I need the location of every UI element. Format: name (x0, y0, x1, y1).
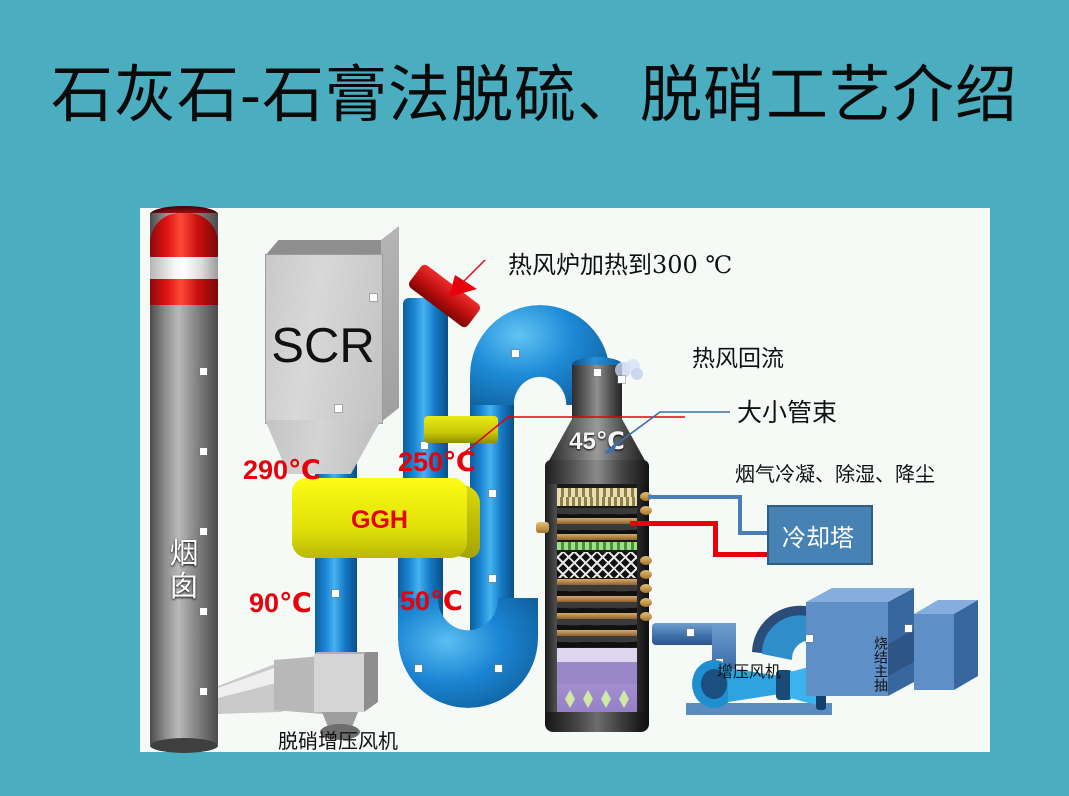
anchor-handle (415, 665, 422, 672)
stack-label: 烟囱 (160, 537, 208, 603)
anchor-handle (200, 368, 207, 375)
anchor-handle (335, 405, 342, 412)
cooling-return-line (713, 552, 770, 557)
stack-red-band-lower (150, 279, 218, 305)
tube-bundle-label: 大小管束 (737, 393, 837, 429)
tower-right-nozzle (640, 570, 652, 579)
tower-internals (557, 484, 637, 712)
anchor-handle (594, 369, 601, 376)
stack-base (150, 738, 218, 753)
slide-root: 石灰石-石膏法脱硫、脱硝工艺介绍 烟囱 SCR (0, 0, 1069, 796)
anchor-handle (489, 490, 496, 497)
tower-right-nozzle (640, 584, 652, 593)
sinter-main-exhaust-label: 烧结主抽 (872, 636, 887, 692)
hot-air-heater-label: 热风炉加热到300 ℃ (508, 245, 732, 280)
stack-red-band-upper (150, 213, 218, 257)
anchor-handle (489, 575, 496, 582)
tray-cap-row (557, 636, 637, 647)
tube-bundle-leader (598, 400, 730, 460)
stack-white-band (150, 257, 218, 279)
tray-cap-row (557, 585, 637, 596)
scr-side-face (381, 226, 399, 422)
booster-fan-label: 增压风机 (717, 658, 781, 682)
anchor-handle (200, 528, 207, 535)
tower-right-nozzle (640, 506, 652, 515)
anchor-handle (200, 448, 207, 455)
temp-290c: 290℃ (243, 455, 321, 486)
green-packing-row (557, 542, 637, 550)
tube-bundle-row (557, 488, 637, 497)
tray-cap-row (557, 619, 637, 630)
cooling-supply-line (738, 495, 742, 535)
tower-right-nozzle (640, 556, 652, 565)
hot-air-arrow-icon (444, 258, 488, 300)
anchor-handle (687, 629, 694, 636)
hot-air-return-label: 热风回流 (692, 339, 784, 373)
tower-base (545, 712, 649, 732)
anchor-handle (905, 625, 912, 632)
anchor-handle (332, 590, 339, 597)
anchor-handle (495, 665, 502, 672)
scr-label: SCR (265, 318, 381, 374)
tube-bundle-row (557, 497, 637, 506)
tower-left-nozzle (536, 522, 549, 533)
denitration-booster-fan-label: 脱硝增压风机 (278, 725, 398, 754)
mesh-demister (557, 552, 637, 578)
tower-right-nozzle (640, 598, 652, 607)
tray-cap-row (557, 602, 637, 613)
page-title: 石灰石-石膏法脱硫、脱硝工艺介绍 (0, 55, 1069, 135)
temp-50c: 50℃ (400, 586, 463, 617)
flue-gas-treatment-label: 烟气冷凝、除湿、降尘 (735, 458, 935, 487)
anchor-handle (200, 688, 207, 695)
anchor-handle (200, 608, 207, 615)
cooling-return-line (630, 521, 718, 526)
anchor-handle (806, 635, 813, 642)
anchor-handle (512, 350, 519, 357)
cooling-tower-label: 冷却塔 (767, 518, 869, 553)
anchor-handle (618, 376, 625, 383)
tower-right-nozzle (640, 612, 652, 621)
anchor-handle (370, 294, 377, 301)
tray-row (557, 534, 637, 540)
temp-90c: 90℃ (249, 588, 312, 619)
ggh-label: GGH (292, 506, 467, 535)
cooling-supply-line (648, 495, 742, 499)
cooling-supply-line (738, 531, 770, 535)
